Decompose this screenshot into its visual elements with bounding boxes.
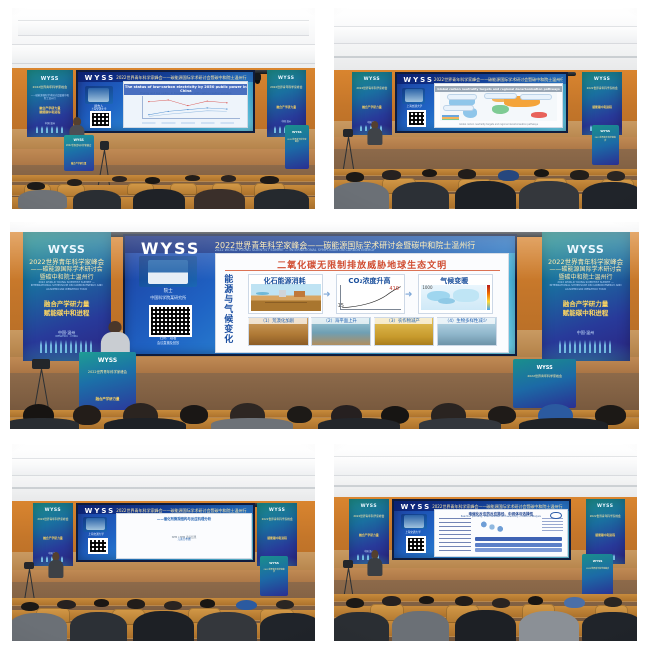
micrograph-row-2-label: 元素分布图 (117, 537, 251, 541)
slide-strip-drought-label: （1）荒漠化加剧 (248, 318, 306, 324)
slide-strip-biodiversity-label: （4）生物多样性减少 (437, 318, 495, 324)
audience (12, 543, 315, 642)
photo-top-right: WYSS 2022世界青年科学家峰会 融合产学研力量 中国·温州 WYSS 20… (334, 8, 637, 209)
banner-slogan-2: 赋能碳中和进程 (29, 111, 70, 115)
banner-slogan: 融合产学研力量 (546, 300, 625, 308)
banner-title: 2022世界青年科学家峰会 (259, 518, 295, 521)
banner-title: 2022世界青年科学家峰会 (351, 515, 387, 518)
banner-slogan: 融合产学研力量 (269, 106, 304, 110)
screen-header-text: 2022世界青年科学家峰会——碳能源国际学术研讨会暨碳中和院士温州行 (434, 77, 563, 83)
chart-plot (142, 96, 240, 120)
speaker-affiliation: 上海交通大学 (395, 531, 430, 534)
banner-slogan: 融合产学研力量 (35, 537, 70, 541)
banner-subtitle: ——碳能源国际学术研讨会暨碳中和院士温州行 (547, 266, 624, 282)
wyss-logo: WYSS (352, 77, 391, 82)
co2-value-bottom: 315 (336, 303, 344, 309)
banner-slogan: 赋能碳中和进程 (259, 537, 294, 541)
banner-slogan-2: 赋能碳中和进程 (546, 309, 625, 317)
wyss-logo: WYSS (586, 504, 625, 509)
slide-panel-co2-label: CO₂浓度升高 (336, 276, 403, 286)
diagram-area (475, 519, 509, 535)
slide-vertical-label: 能源与气候变化 (222, 274, 231, 345)
slide-panel-climate-label: 气候变暖 (418, 276, 491, 286)
slide-title: ——催化剂微观结构与反应机理分析 (117, 516, 251, 521)
photo-middle-wide: WYSS 2022世界青年科学家峰会 ——碳能源国际学术研讨会暨碳中和院士温州行… (10, 222, 639, 429)
screen-header-text: 2022世界青年科学家峰会——碳能源国际学术研讨会暨碳中和院士温州行 (116, 75, 250, 81)
slide-strip-sealevel-label: （2）海平面上升 (311, 318, 369, 324)
banner-subtitle-en: 2022 WORLD YOUNG SCIENTIST SUMMIT — INTE… (547, 281, 624, 291)
stage-banner-right: WYSS 2022世界青年科学家峰会 ——碳能源国际学术研讨会暨碳中和院士温州行… (542, 232, 630, 360)
speaker-portrait-card (401, 514, 427, 529)
qr-caption-2: 会议直播及回放 (129, 341, 207, 345)
banner-subtitle: ——碳能源国际学术研讨会暨碳中和院士温州行 (30, 94, 70, 100)
banner-title: 2022世界青年科学家峰会 (587, 515, 623, 518)
qr-caption: 扫码 · 观看 (133, 336, 203, 340)
banner-slogan: 融合产学研力量 (27, 300, 106, 308)
banner-slogan: 赋能碳中和进程 (587, 534, 622, 538)
stage-banner-left: WYSS 2022世界青年科学家峰会 ——碳能源国际学术研讨会暨碳中和院士温州行… (23, 232, 111, 360)
skyline-icon (559, 340, 612, 353)
arrow-icon: ➜ (323, 290, 331, 300)
banner-title: 2022世界青年科学家峰会 (268, 86, 304, 89)
banner-subtitle: ——碳能源国际学术研讨会暨碳中和院士温州行 (28, 266, 105, 282)
speaker-affiliation: 上海交通大学 (398, 105, 430, 108)
screen-header-text-en: 2022 WORLD YOUNG SCIENTIST SUMMIT — INTE… (215, 248, 509, 252)
banner-slogan-2: 赋能碳中和进程 (27, 309, 106, 317)
wyss-logo: WYSS (401, 503, 432, 511)
audience (334, 113, 637, 209)
wyss-logo: WYSS (257, 508, 296, 513)
banner-slogan: 融合产学研力量 (354, 106, 389, 110)
banner-title: 2022世界青年科学家峰会 (354, 87, 390, 90)
speaker-portrait-card (85, 86, 113, 103)
wyss-logo: WYSS (27, 76, 72, 82)
led-screen: WYSS 2022世界青年科学家峰会——碳能源国际学术研讨会暨碳中和院士温州行 … (123, 234, 517, 356)
banner-title: 2022世界青年科学家峰会 (29, 86, 71, 90)
table-block (542, 518, 563, 532)
slide-subtitle: Energy and low carbon in transformation … (124, 92, 247, 95)
wyss-logo: WYSS (23, 243, 111, 256)
arrow-icon: ➜ (405, 290, 413, 300)
slide-panel-fossil-label: 化石能源消耗 (248, 276, 321, 286)
wyss-logo: WYSS (582, 77, 621, 82)
wyss-logo: WYSS (33, 508, 72, 513)
slide-area: 二氧化碳无限制排放威胁地球生态文明 能源与气候变化 化石能源消耗 ➜ (215, 253, 509, 353)
org-logo-icon (550, 512, 561, 519)
banner-title: 2022世界青年科学家峰会 (584, 87, 620, 90)
banner-city: 中国·温州 (542, 330, 630, 336)
photo-bottom-right: WYSS 2022世界青年科学家峰会 融合产学研力量 中国·温州 WYSS 20… (334, 444, 637, 641)
banner-subtitle-en: 2022 WORLD YOUNG SCIENTIST SUMMIT — INTE… (28, 281, 105, 291)
photo-top-left: WYSS 2022世界青年科学家峰会 ——碳能源国际学术研讨会暨碳中和院士温州行… (12, 8, 315, 209)
photo-collage: WYSS 2022世界青年科学家峰会 ——碳能源国际学术研讨会暨碳中和院士温州行… (0, 0, 649, 649)
audience (334, 539, 637, 641)
speaker-portrait-card (402, 88, 426, 104)
wyss-logo: WYSS (85, 507, 116, 515)
wyss-logo: WYSS (85, 74, 116, 82)
wyss-logo: WYSS (542, 243, 630, 256)
speaker-affiliation: 上海交通大学 (79, 533, 112, 536)
speaker-portrait-card (139, 256, 197, 287)
skyline-icon (40, 340, 93, 353)
audience (12, 121, 315, 209)
banner-slogan: 融合产学研力量 (351, 534, 386, 538)
photo-bottom-left: WYSS 2022世界青年科学家峰会 融合产学研力量 中国·温州 WYSS 20… (12, 444, 315, 641)
co2-value-top: 410 (389, 286, 399, 292)
wyss-logo: WYSS (267, 76, 306, 81)
speaker-affiliation: 中国科学院某研究所 (127, 295, 209, 300)
wyss-logo: WYSS (403, 76, 434, 84)
audience (10, 363, 639, 429)
micrograph-row-1 (121, 521, 247, 534)
banner-city: 中国·温州 (23, 330, 111, 336)
speaker-portrait-card (83, 517, 108, 531)
slide-strip-crops-label: （3）农作物减产 (374, 318, 432, 324)
wyss-logo: WYSS (349, 504, 388, 509)
banner-slogan: 赋能碳中和进程 (584, 106, 619, 110)
banner-city-sub: WENZHOU · CHINA (23, 335, 111, 338)
banner-title: 2022世界青年科学家峰会 (35, 518, 71, 521)
qr-code (149, 305, 192, 337)
